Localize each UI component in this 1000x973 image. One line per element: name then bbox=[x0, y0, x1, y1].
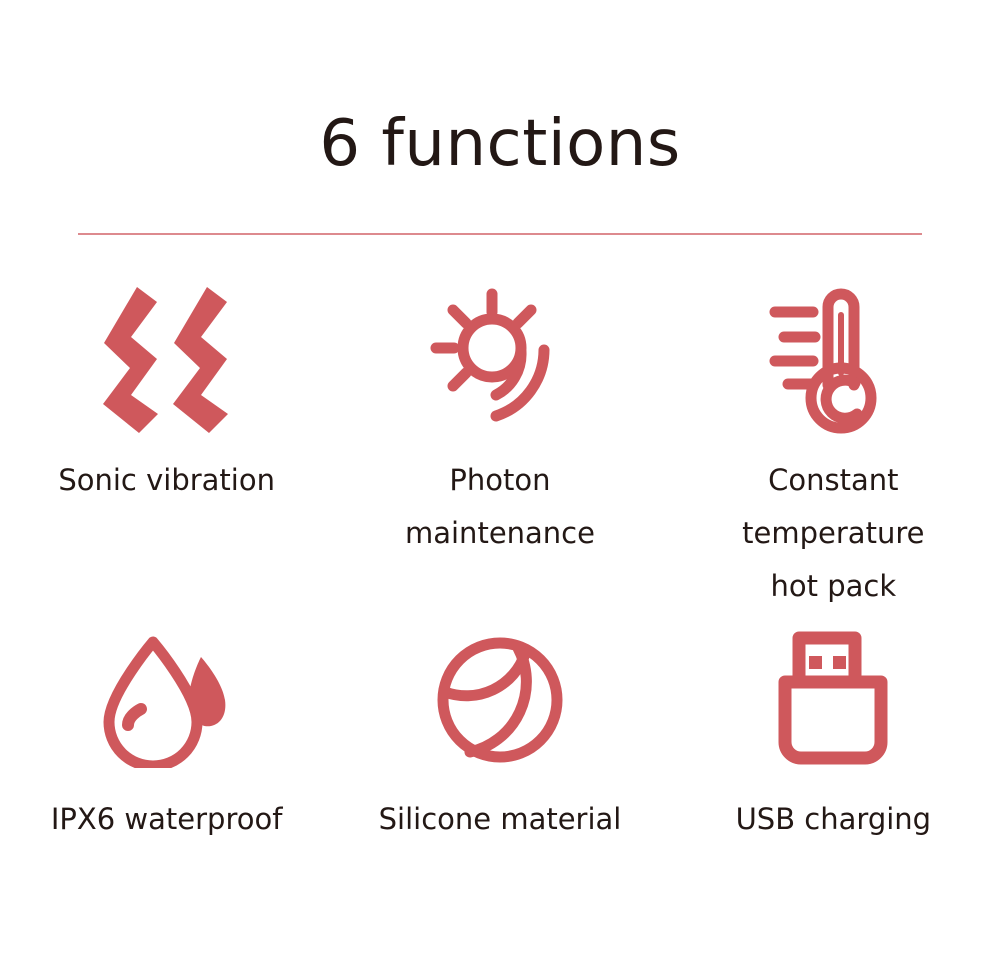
feature-item-usb-charging: USB charging bbox=[667, 625, 1000, 905]
water-drop-icon bbox=[82, 625, 252, 775]
feature-highlights-page: 6 functions Sonic vibration bbox=[0, 0, 1000, 973]
feature-label: USB charging bbox=[736, 793, 932, 846]
thermometer-heat-icon bbox=[748, 280, 918, 440]
feature-label: Silicone material bbox=[379, 793, 622, 846]
feature-item-sonic-vibration: Sonic vibration bbox=[0, 280, 333, 625]
feature-item-photon-maintenance: Photon maintenance bbox=[333, 280, 666, 625]
feature-grid: Sonic vibration bbox=[0, 280, 1000, 905]
photon-sun-waves-icon bbox=[415, 280, 585, 440]
feature-label: IPX6 waterproof bbox=[51, 793, 283, 846]
usb-drive-icon bbox=[748, 625, 918, 775]
page-title: 6 functions bbox=[0, 108, 1000, 180]
feature-item-constant-temperature: Constant temperature hot pack bbox=[667, 280, 1000, 625]
feature-label: Photon maintenance bbox=[405, 454, 595, 560]
feature-label: Constant temperature hot pack bbox=[742, 454, 924, 613]
header: 6 functions bbox=[0, 0, 1000, 232]
sonic-vibration-icon bbox=[82, 280, 252, 440]
feature-label: Sonic vibration bbox=[58, 454, 275, 507]
silicone-ball-icon bbox=[415, 625, 585, 775]
feature-item-ipx6-waterproof: IPX6 waterproof bbox=[0, 625, 333, 905]
feature-item-silicone-material: Silicone material bbox=[333, 625, 666, 905]
title-divider bbox=[78, 233, 922, 235]
